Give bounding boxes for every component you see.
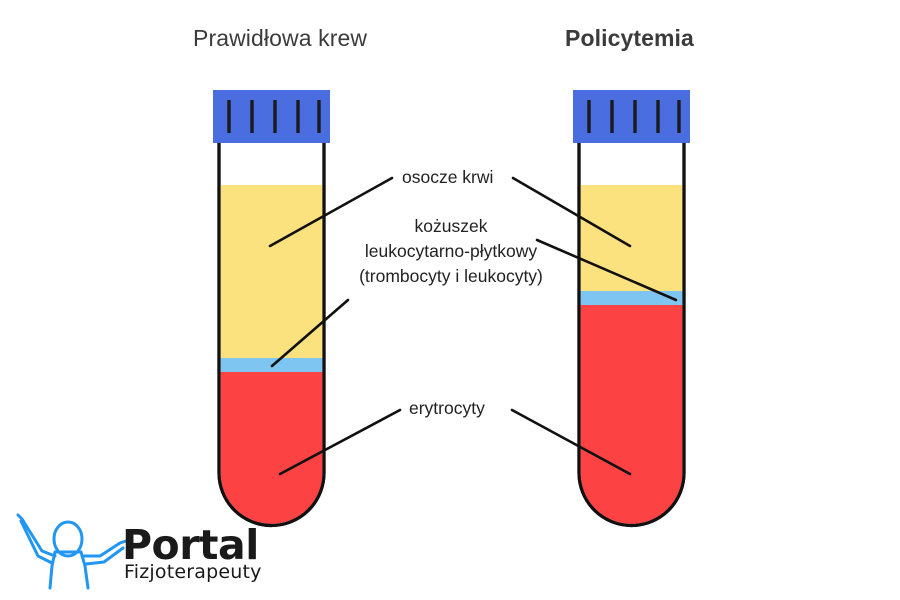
tubes-and-leaders-svg — [0, 0, 900, 600]
callout-buffy-coat-line2: leukocytarno-płytkowy — [358, 239, 544, 264]
layer-erythrocytes-left — [219, 372, 324, 532]
layer-plasma-left — [219, 185, 324, 358]
logo-tagline: Fizjoterapeuty — [124, 561, 262, 583]
layer-plasma-right — [579, 185, 684, 291]
normal-blood-tube — [213, 90, 330, 532]
callout-buffy-coat-line3: (trombocyty i leukocyty) — [358, 264, 544, 289]
callout-buffy-coat: kożuszek leukocytarno-płytkowy (trombocy… — [358, 214, 544, 289]
callout-buffy-coat-line1: kożuszek — [358, 214, 544, 239]
polycythemia-tube — [573, 90, 690, 532]
layer-erythrocytes-right — [579, 305, 684, 532]
diagram-canvas: Prawidłowa krew Policytemia — [0, 0, 900, 600]
callout-erythrocytes: erytrocyty — [409, 396, 485, 421]
person-arms-spread-icon — [18, 515, 126, 588]
callout-plasma: osocze krwi — [402, 165, 493, 190]
